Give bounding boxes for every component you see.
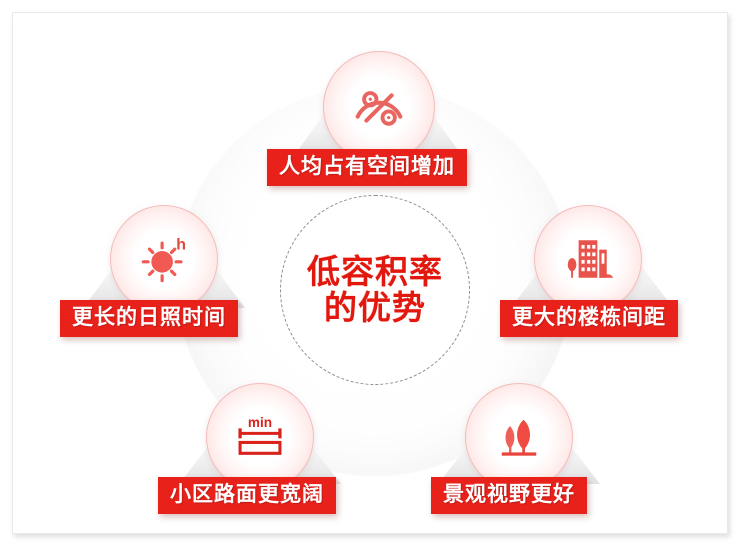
center-title-line-2: 的优势	[324, 290, 426, 326]
node-label-build[interactable]: 更大的楼栋间距	[500, 300, 678, 337]
node-bubble-build[interactable]	[534, 205, 642, 313]
node-label-space[interactable]: 人均占有空间增加	[267, 149, 467, 186]
node-label-sun[interactable]: 更长的日照时间	[60, 300, 238, 337]
node-label-view[interactable]: 景观视野更好	[431, 477, 587, 514]
road-width-min-icon: min	[222, 399, 298, 475]
buildings-spacing-icon	[550, 221, 626, 297]
node-bubble-space[interactable]	[323, 51, 435, 163]
percent-gauge-icon	[339, 67, 418, 146]
node-label-road[interactable]: 小区路面更宽阔	[158, 477, 336, 514]
center-title: 低容积率 的优势	[280, 195, 470, 385]
svg-text:min: min	[248, 415, 272, 430]
infographic-card: 低容积率 的优势 人均占有空间增加	[12, 12, 728, 534]
sun-hours-icon: h	[126, 221, 202, 297]
center-title-line-1: 低容积率	[307, 254, 443, 290]
node-bubble-road[interactable]: min	[206, 383, 314, 491]
node-bubble-sun[interactable]: h	[110, 205, 218, 313]
node-bubble-view[interactable]	[465, 383, 573, 491]
svg-text:h: h	[176, 237, 186, 254]
two-trees-icon	[481, 399, 557, 475]
